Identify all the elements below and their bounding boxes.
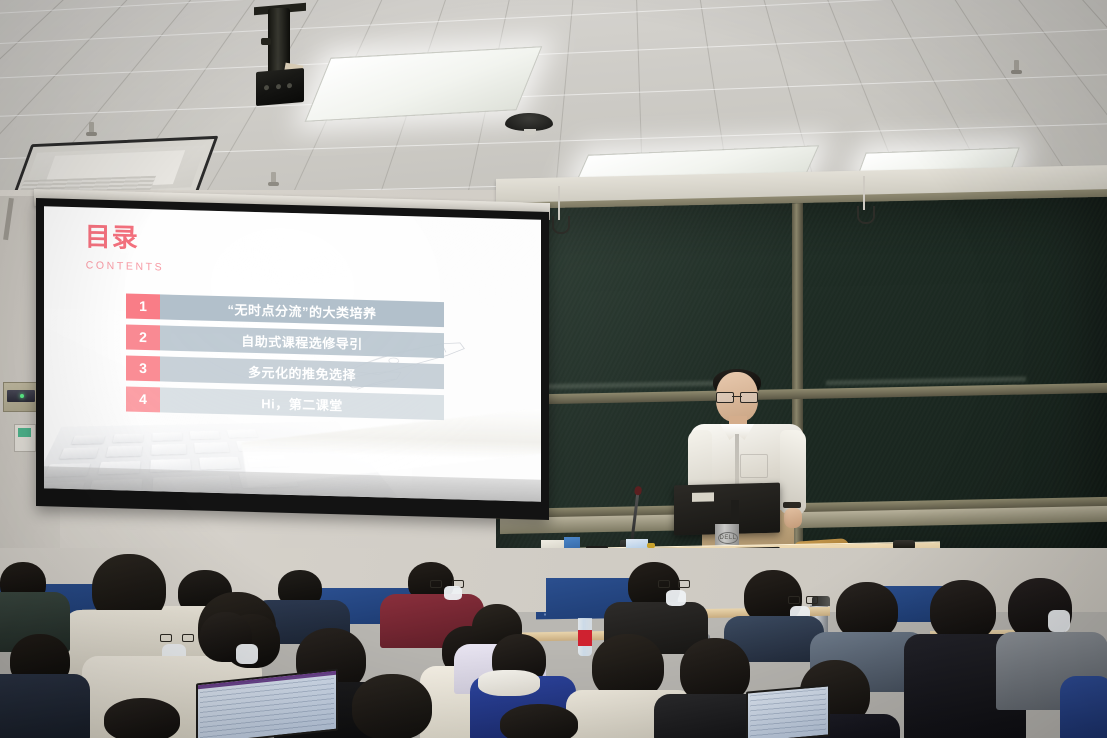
slide-content: 目录 CONTENTS 1 “无时点分流”的大类培养 2 自助式课程选修导引 3… [44,206,541,501]
projected-slide: 目录 CONTENTS 1 “无时点分流”的大类培养 2 自助式课程选修导引 3… [44,206,541,501]
face-mask [236,644,258,664]
face-mask [666,590,686,606]
audience-glasses [430,580,464,586]
list-item-number: 4 [126,386,160,412]
mount-knob [261,38,271,45]
audience-body [0,674,90,738]
list-item: 3 多元化的推免选择 [126,355,444,389]
laptop-spreadsheet-rows [750,689,826,738]
mount-head [256,68,304,106]
slide-contents-list: 1 “无时点分流”的大类培养 2 自助式课程选修导引 3 多元化的推免选择 4 … [126,293,444,426]
sprinkler-head-icon [88,122,95,138]
list-item-number: 1 [126,293,160,319]
audience-head [500,704,578,738]
mount-screw [276,84,281,89]
list-item-label: 自助式课程选修导引 [160,325,444,358]
dell-logo: DELL [718,532,738,544]
smoke-detector-icon [505,113,553,131]
list-item: 4 Hi，第二课堂 [126,386,444,420]
laptop-screen [196,669,338,738]
audience-glasses [788,596,818,602]
projection-screen-frame: 目录 CONTENTS 1 “无时点分流”的大类培养 2 自助式课程选修导引 3… [36,198,549,520]
water-bottle [578,612,592,656]
presenter-glasses [716,392,758,401]
audience-head [104,698,180,738]
audience-head [930,580,996,642]
status-led [20,394,24,398]
sprinkler-head-icon [270,172,277,188]
list-item-number: 3 [126,355,160,381]
mount-screw [287,83,292,88]
monitor-label-sticker [692,492,714,502]
fluorescent-panel-light [305,46,543,122]
blackboard-hook-icon [558,186,560,220]
list-item: 2 自助式课程选修导引 [126,324,444,358]
fur-hood-trim [478,670,540,696]
slide-subtitle: CONTENTS [86,260,165,274]
face-mask [444,586,462,600]
audience-laptop[interactable] [746,688,830,738]
audience-head [352,674,432,738]
light-switch-plate[interactable] [14,424,36,452]
audience-body [1060,676,1107,738]
blackboard-hook-icon [863,176,865,210]
audience-glasses [658,580,690,586]
lecture-hall-photo: 目录 CONTENTS 1 “无时点分流”的大类培养 2 自助式课程选修导引 3… [0,0,1107,738]
slide-title: 目录 [85,223,139,250]
presenter-right-hand [784,508,802,528]
sprinkler-head-icon [1013,60,1020,76]
audience [0,548,1107,738]
face-mask [1048,610,1070,632]
list-item: 1 “无时点分流”的大类培养 [126,293,444,327]
audience-laptop[interactable] [196,676,338,738]
list-item-label: Hi，第二课堂 [160,387,444,420]
laptop-screen [746,684,830,738]
projector-mount-icon [256,8,304,108]
audience-glasses [160,634,194,640]
list-item-label: 多元化的推免选择 [160,356,444,389]
presenter-shirt-pocket [740,454,768,478]
list-item-label: “无时点分流”的大类培养 [160,294,444,327]
list-item-number: 2 [126,324,160,350]
mount-screw [264,85,269,90]
